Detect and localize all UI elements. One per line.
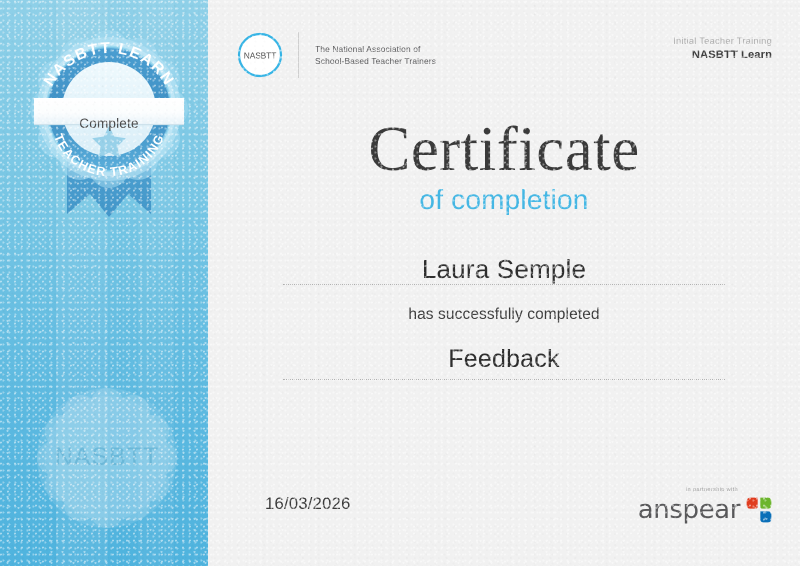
anspear-logo: anspear <box>638 495 774 525</box>
nasbtt-name-line-2: School-Based Teacher Trainers <box>315 55 436 68</box>
nasbtt-circle-icon: NASBTT <box>236 31 284 79</box>
recipient-name: Laura Semple <box>208 253 800 285</box>
anspear-petal-icon <box>744 495 774 525</box>
certificate-page: NASBTT <box>0 0 800 566</box>
watermark-label: NASBTT <box>55 443 160 471</box>
partner-caption: in partnership with <box>638 487 738 493</box>
program-eyebrow: Initial Teacher Training <box>673 36 772 46</box>
nasbtt-name-line-1: The National Association of <box>315 43 436 56</box>
header-program-info: Initial Teacher Training NASBTT Learn <box>673 36 772 61</box>
logo-divider <box>298 32 299 78</box>
completion-statement: has successfully completed <box>208 304 800 326</box>
nasbtt-logo-name: The National Association of School-Based… <box>315 43 436 68</box>
award-badge: NASBTT LEARN TEACHER TRAINING Complete <box>20 18 198 233</box>
course-name: Feedback <box>208 343 800 375</box>
nasbtt-watermark: NASBTT <box>34 385 180 531</box>
partner-block: in partnership with anspear <box>638 487 774 525</box>
certificate-subtitle: of completion <box>208 183 800 217</box>
issue-date: 16/03/2026 <box>265 495 351 514</box>
nasbtt-header-logo: NASBTT The National Association of Schoo… <box>236 31 436 79</box>
certificate-title: Certificate <box>208 113 800 185</box>
course-dotted-line <box>283 379 725 380</box>
anspear-wordmark: anspear <box>638 497 740 523</box>
nasbtt-mark-text: NASBTT <box>244 51 276 61</box>
program-brand: NASBTT Learn <box>673 49 772 61</box>
